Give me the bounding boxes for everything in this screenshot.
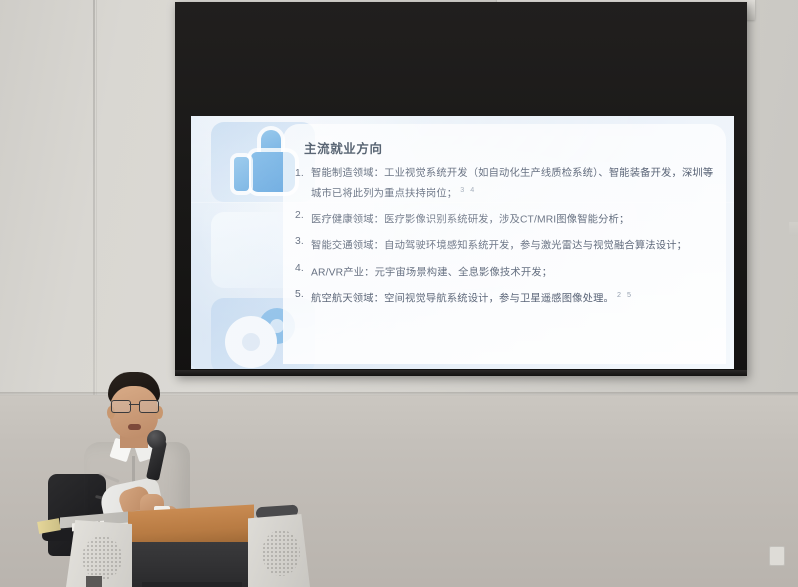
list-item-lead: 医疗健康领域：: [311, 214, 384, 225]
microphone-head-icon: [147, 430, 166, 449]
lectern-base: [142, 582, 242, 587]
slide-title: 主流就业方向: [304, 138, 383, 157]
list-item: 2. 医疗健康领域：医疗影像识别系统研发，涉及CT/MRI图像智能分析；: [295, 208, 719, 228]
list-item-number: 2.: [295, 208, 304, 224]
list-item-lead: AR/VR产业：: [311, 267, 375, 278]
lectern-front-panel: [128, 542, 254, 587]
list-item: 4. AR/VR产业：元宇宙场景构建、全息影像技术开发；: [295, 261, 719, 281]
list-item-number: 1.: [295, 166, 304, 182]
gear-hub: [242, 333, 260, 351]
list-item-number: 3.: [295, 234, 304, 250]
lecture-room-scene: 主流就业方向 1. 智能制造领域：工业视觉系统开发（如自动化生产线质检系统）、智…: [0, 0, 798, 587]
list-item-citation: 3 4: [460, 185, 476, 194]
list-item-number: 4.: [295, 261, 304, 277]
list-item-text: 元宇宙场景构建、全息影像技术开发；: [375, 267, 553, 278]
list-item-text: 自动驾驶环境感知系统开发，参与激光雷达与视觉融合算法设计；: [384, 241, 687, 252]
screen-black-border: 主流就业方向 1. 智能制造领域：工业视觉系统开发（如自动化生产线质检系统）、智…: [175, 2, 747, 376]
lectern: [50, 490, 315, 587]
lectern-leg: [86, 576, 102, 587]
presenter-mouth: [128, 424, 141, 430]
list-item: 3. 智能交通领域：自动驾驶环境感知系统开发，参与激光雷达与视觉融合算法设计；: [295, 234, 719, 254]
list-item-text: 医疗影像识别系统研发，涉及CT/MRI图像智能分析；: [384, 214, 629, 225]
list-item-text: 空间视觉导航系统设计，参与卫星遥感图像处理。: [384, 294, 614, 305]
list-item-number: 5.: [295, 287, 304, 303]
speaker-grille-right: [262, 530, 300, 576]
glasses-lens-right: [139, 400, 159, 413]
wall-outlet: [769, 546, 785, 566]
eyeglasses: [110, 400, 160, 411]
list-item-lead: 智能交通领域：: [311, 241, 384, 252]
list-item-citation: 2 5: [617, 290, 633, 299]
slide-bullet-list: 1. 智能制造领域：工业视觉系统开发（如自动化生产线质检系统）、智能装备开发，深…: [295, 166, 719, 314]
screen-bottom-weight-bar: [175, 370, 747, 376]
gear-large-icon: [225, 316, 277, 368]
glasses-bridge: [129, 404, 139, 405]
speaker-grille-left: [82, 536, 122, 580]
list-item: 1. 智能制造领域：工业视觉系统开发（如自动化生产线质检系统）、智能装备开发，深…: [295, 166, 719, 201]
projection-scanline: [191, 202, 734, 203]
list-item-lead: 航空航天领域：: [311, 294, 384, 305]
list-item: 5. 航空航天领域：空间视觉导航系统设计，参与卫星遥感图像处理。2 5: [295, 287, 719, 307]
projection-surface: 主流就业方向 1. 智能制造领域：工业视觉系统开发（如自动化生产线质检系统）、智…: [191, 116, 734, 369]
thumbs-up-cuff-part: [234, 157, 249, 191]
wall-scuff: [789, 222, 798, 236]
projection-screen-unit: 主流就业方向 1. 智能制造领域：工业视觉系统开发（如自动化生产线质检系统）、智…: [175, 0, 755, 382]
presentation-slide: 主流就业方向 1. 智能制造领域：工业视觉系统开发（如自动化生产线质检系统）、智…: [191, 116, 734, 369]
glasses-lens-left: [111, 400, 131, 413]
list-item-lead: 智能制造领域：: [311, 168, 384, 179]
